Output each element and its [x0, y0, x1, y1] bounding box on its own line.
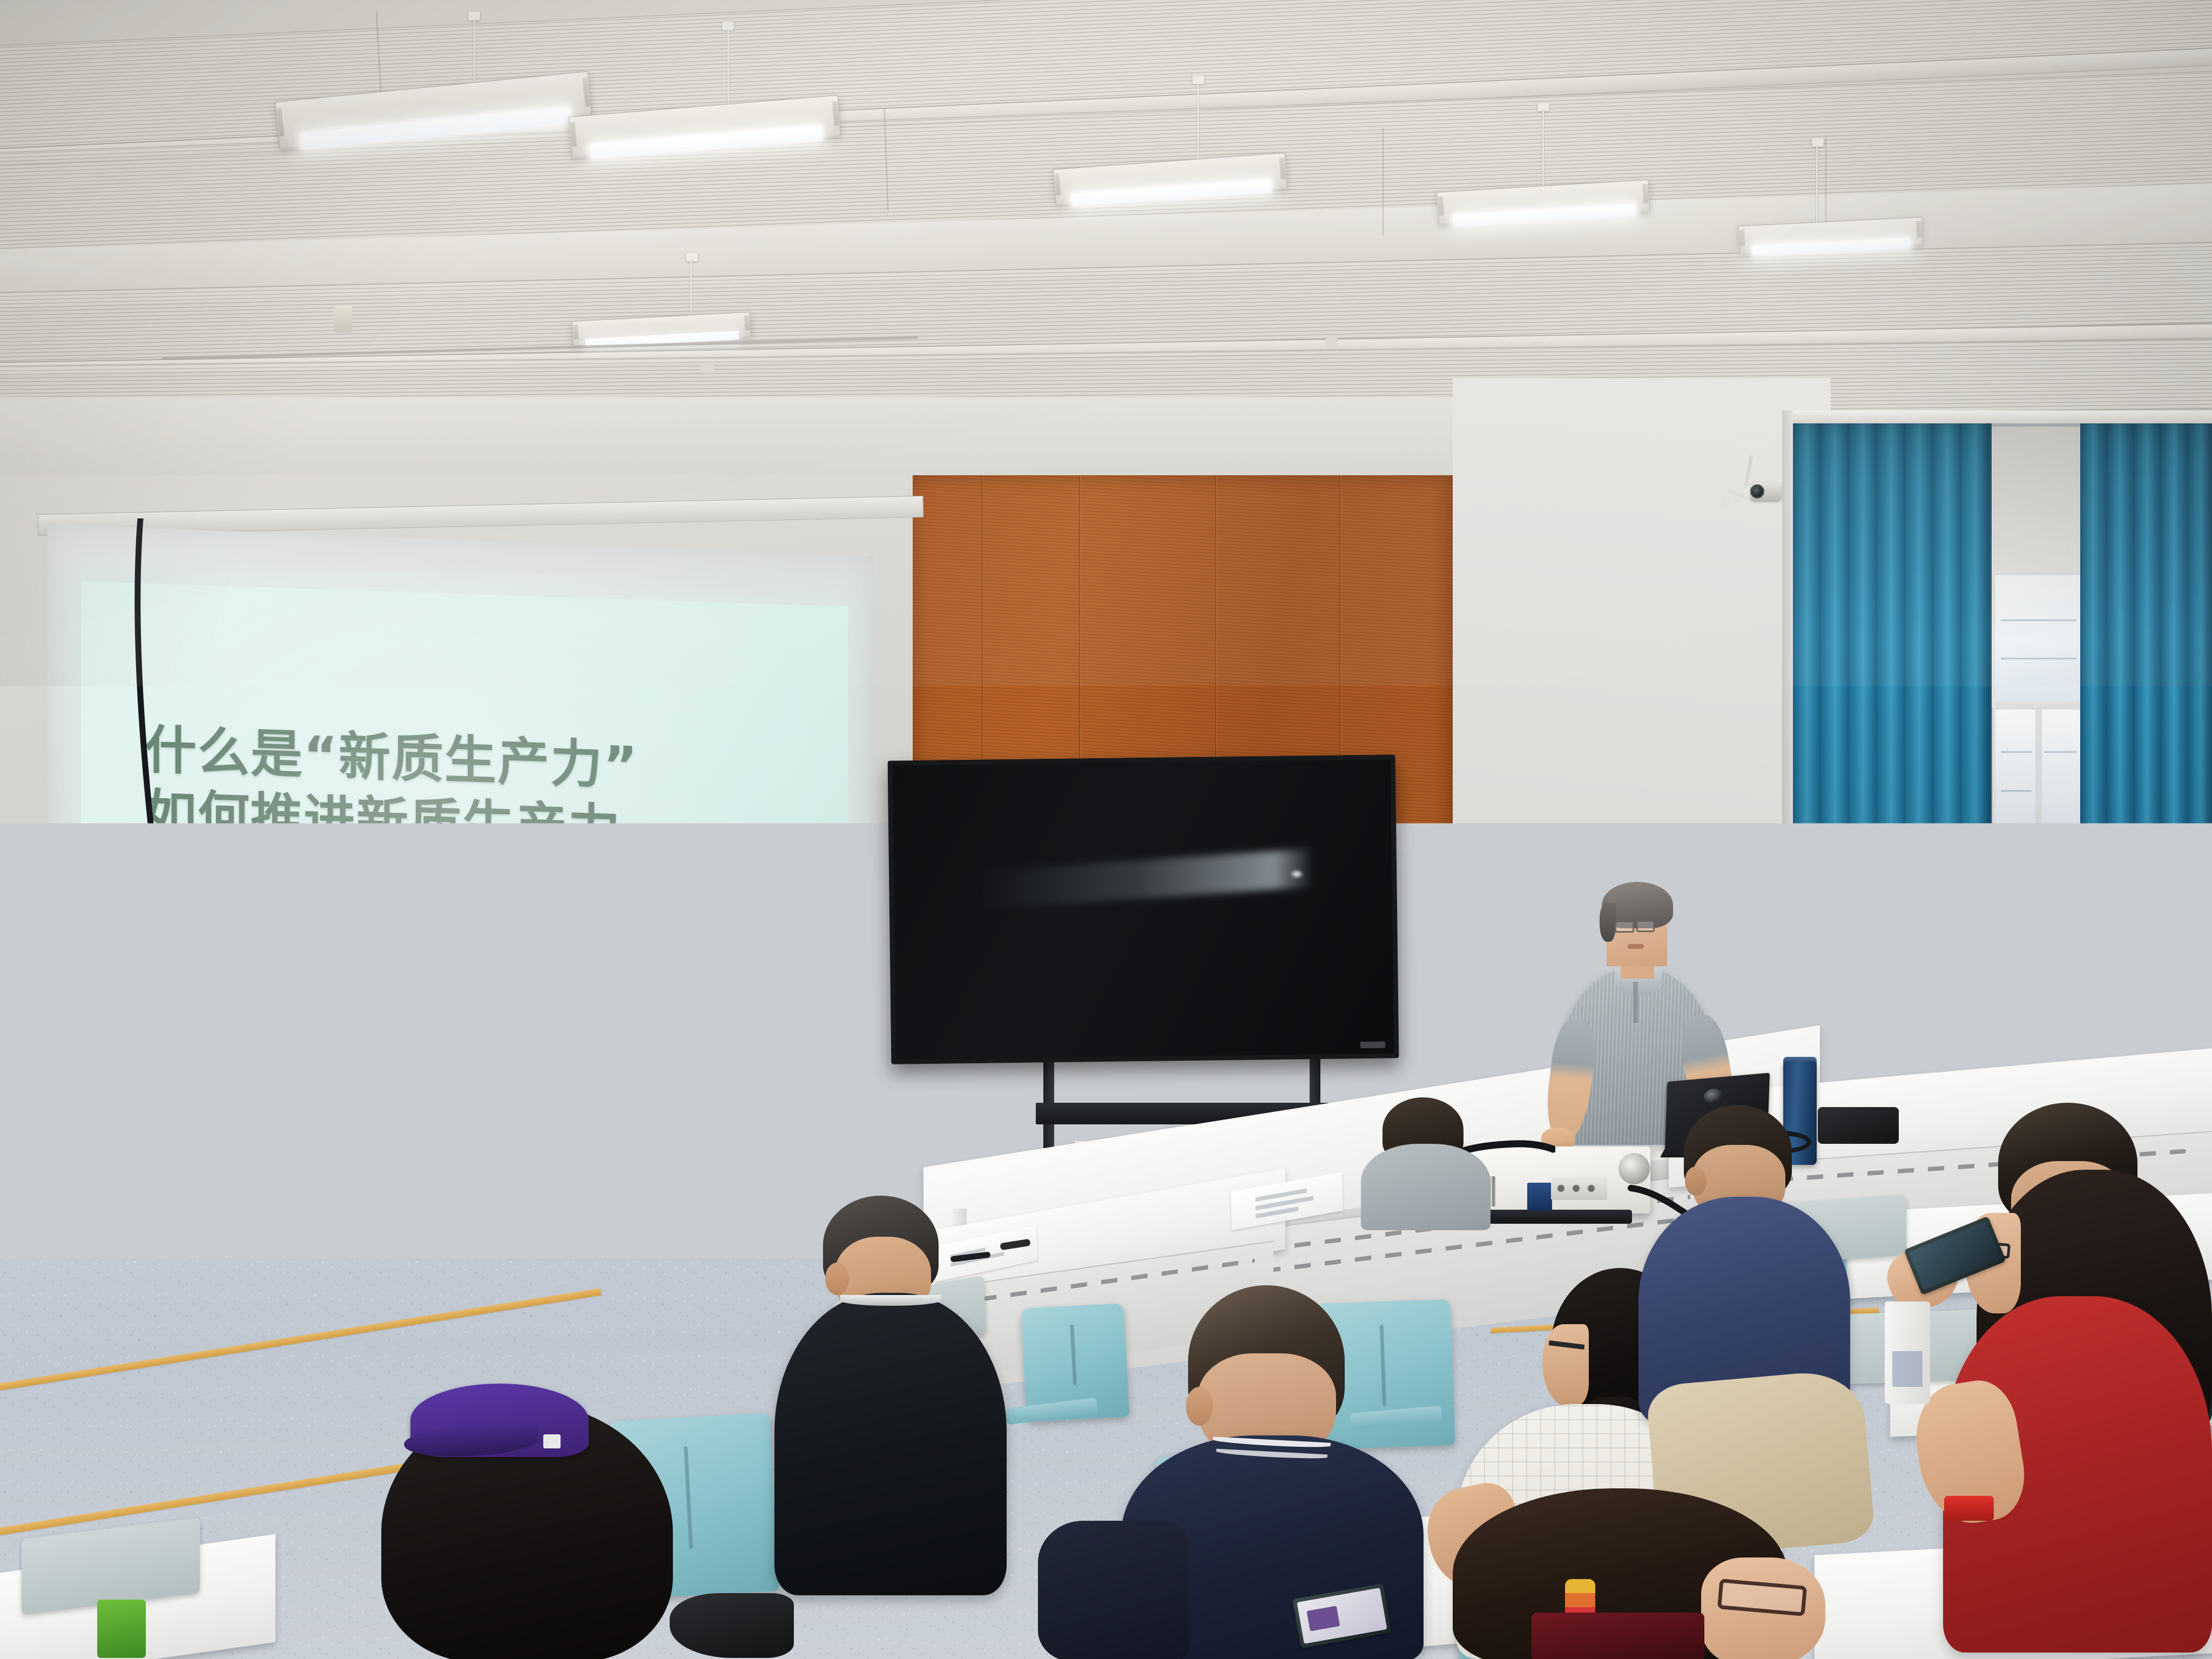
presenter-hair-side	[1600, 903, 1616, 942]
bottle-cap-red[interactable]	[1944, 1496, 1994, 1521]
wall-cable	[106, 518, 873, 1258]
black-polo-collar-trim	[840, 1295, 941, 1306]
ceiling-bracket-1	[700, 363, 714, 373]
presenter-eyeglasses-right-lens	[1636, 920, 1655, 932]
window-sill	[1777, 929, 2212, 953]
camera-mount	[1723, 496, 1730, 508]
curtain-left-panel[interactable]	[1793, 423, 1992, 969]
camera-lens-icon	[1750, 484, 1764, 498]
presenter-mouth	[1628, 944, 1644, 949]
green-item	[97, 1600, 146, 1658]
sill-papers	[1923, 917, 2025, 930]
desk-adapter-bundle	[1818, 1107, 1899, 1144]
ceiling	[0, 0, 2212, 410]
black-polo-shoe	[670, 1593, 794, 1658]
presenter-eyeglasses-bridge	[1634, 925, 1638, 926]
flat-panel-display[interactable]	[888, 754, 1399, 1064]
sill-clamp	[2101, 921, 2136, 938]
tablet-case	[1792, 1391, 1965, 1444]
classroom-photo: 什么是“新质生产力” 如何推进新质生产力 马克思主义学院 李卫红 2024年9月…	[0, 0, 2212, 1659]
black-polo-ear	[825, 1263, 849, 1295]
navy-polo-ear	[1186, 1387, 1213, 1426]
blue-shirt-ear	[1685, 1166, 1707, 1196]
display-screen	[893, 759, 1394, 1059]
ceiling-sensor	[334, 306, 352, 333]
bag-on-floor	[1532, 1613, 1704, 1659]
navy-polo-leg	[1038, 1521, 1189, 1659]
display-brand-mark	[1360, 1042, 1385, 1049]
presenter-placket	[1633, 982, 1638, 1023]
black-polo-shirt	[774, 1293, 1007, 1595]
ceiling-bracket-2	[1325, 338, 1338, 347]
window-frame	[1993, 572, 2085, 853]
cap-tag	[543, 1434, 561, 1448]
projector-control-panel[interactable]	[1551, 1177, 1607, 1200]
back-left-shirt	[1361, 1144, 1491, 1230]
presenter-eyeglasses-left-lens	[1615, 921, 1634, 933]
